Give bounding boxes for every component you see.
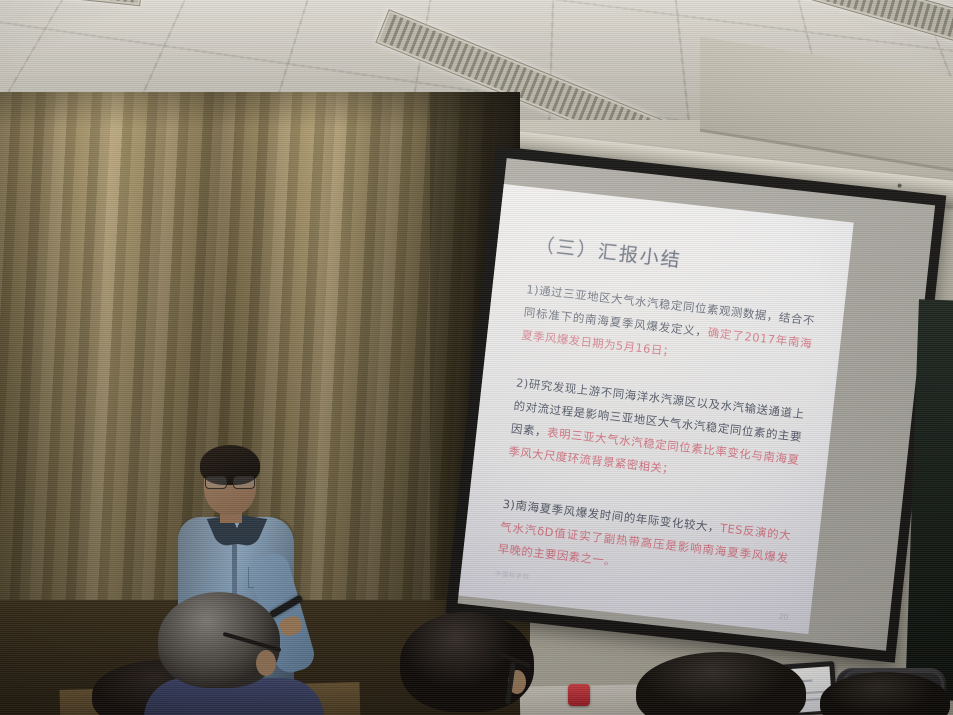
paragraph-1-plain: 1)通过三亚地区大气水汽稳定同位素观测数据，结合不同标准下的南海夏季风爆发定义，: [523, 282, 815, 339]
paragraph-3-highlight: TES反演的大气水汽δD值证实了副热带高压是影响南海夏季风爆发早晚的主要因素之一…: [497, 519, 792, 569]
slide-page-number: 20: [779, 612, 789, 622]
audience-member-far-right: [820, 672, 950, 715]
red-cup: [568, 684, 590, 706]
slide-paragraph-1: 1)通过三亚地区大气水汽稳定同位素观测数据，结合不同标准下的南海夏季风爆发定义，…: [520, 278, 816, 378]
slide-title: （三）汇报小结: [534, 230, 829, 289]
projection-screen: （三）汇报小结 1)通过三亚地区大气水汽稳定同位素观测数据，结合不同标准下的南海…: [445, 146, 946, 663]
audience-member-elderly-left: [150, 592, 300, 715]
eyeglasses-icon: [205, 476, 255, 487]
audience-member-right: [636, 652, 806, 715]
screen-surface: （三）汇报小结 1)通过三亚地区大气水汽稳定同位素观测数据，结合不同标准下的南海…: [458, 158, 936, 651]
slide-paragraph-3: 3)南海夏季风爆发时间的年际变化较大，TES反演的大气水汽δD值证实了副热带高压…: [497, 493, 793, 593]
audience-member-center: [400, 612, 550, 715]
projected-slide: （三）汇报小结 1)通过三亚地区大气水汽稳定同位素观测数据，结合不同标准下的南海…: [458, 184, 853, 634]
audience-ear: [256, 650, 276, 676]
roller-screw-icon: [897, 183, 901, 187]
slide-paragraph-2: 2)研究发现上游不同海洋水汽源区以及水汽输送通道上的对流过程是影响三亚地区大气水…: [507, 372, 805, 495]
presentation-room-photo: （三）汇报小结 1)通过三亚地区大气水汽稳定同位素观测数据，结合不同标准下的南海…: [0, 0, 953, 715]
audience-hair: [820, 672, 950, 715]
audience-hair: [636, 652, 806, 715]
